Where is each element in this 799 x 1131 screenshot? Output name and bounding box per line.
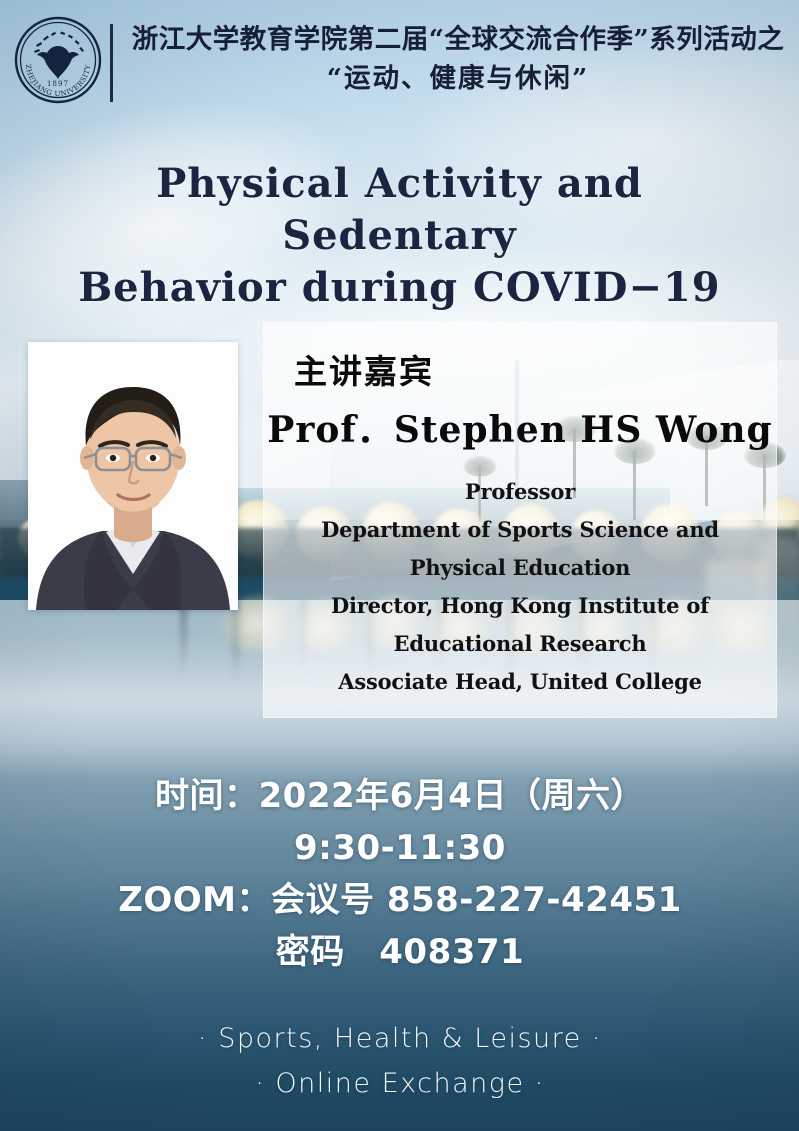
affiliation-line: Department of Sports Science and [264,511,776,549]
speaker-portrait-photo [28,342,238,610]
title-line-1: Physical Activity and Sedentary [40,158,759,262]
poster-footer: · Sports, Health & Leisure · · Online Ex… [60,1016,740,1106]
speaker-affiliations: Professor Department of Sports Science a… [264,473,776,701]
speaker-info-content: 主讲嘉宾 Prof．Stephen HS Wong Professor Depa… [264,323,776,701]
event-poster: 1897 ZHEJIANG UNIVERSITY 浙江大学教育学院第二届“全球交… [0,0,799,1131]
affiliation-line: Director, Hong Kong Institute of [264,587,776,625]
header-divider [110,24,113,102]
header-title-block: 浙江大学教育学院第二届“全球交流合作季”系列活动之 “运动、健康与休闲” [126,20,790,98]
affiliation-line: Physical Education [264,549,776,587]
zoom-password-line: 密码 408371 [60,926,740,978]
footer-line-2: · Online Exchange · [60,1061,740,1106]
portrait-image [28,342,238,610]
affiliation-line: Associate Head, United College [264,663,776,701]
zoom-meeting-line: ZOOM：会议号 858-227-42451 [60,874,740,926]
event-datetime-line: 时间：2022年6月4日（周六） [60,770,740,822]
zhejiang-university-logo-icon: 1897 ZHEJIANG UNIVERSITY [14,16,102,104]
guest-speaker-label: 主讲嘉宾 [264,345,776,393]
speaker-info-panel: 主讲嘉宾 Prof．Stephen HS Wong Professor Depa… [263,322,777,718]
footer-line-1: · Sports, Health & Leisure · [60,1016,740,1061]
svg-text:1897: 1897 [47,79,69,88]
speaker-name: Prof．Stephen HS Wong [264,401,776,453]
header-line-2: “运动、健康与休闲” [126,59,790,98]
event-details: 时间：2022年6月4日（周六） 9:30-11:30 ZOOM：会议号 858… [60,770,740,978]
poster-header: 1897 ZHEJIANG UNIVERSITY 浙江大学教育学院第二届“全球交… [0,0,799,118]
affiliation-line: Professor [264,473,776,511]
event-time-line: 9:30-11:30 [60,822,740,874]
affiliation-line: Educational Research [264,625,776,663]
title-line-2: Behavior during COVID−19 [40,262,759,314]
poster-title: Physical Activity and Sedentary Behavior… [40,158,759,314]
header-line-1: 浙江大学教育学院第二届“全球交流合作季”系列活动之 [126,20,790,59]
